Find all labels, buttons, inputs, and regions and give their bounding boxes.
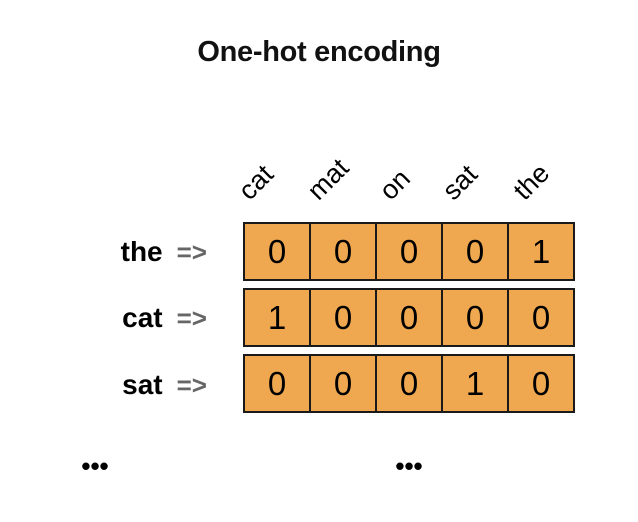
column-header-mat: mat — [303, 154, 354, 205]
maps-to-arrow-icon: => — [177, 239, 207, 265]
matrix-cell: 1 — [442, 354, 508, 413]
matrix-cell: 0 — [442, 222, 508, 281]
matrix-cell: 0 — [376, 354, 442, 413]
matrix-row: 00001 — [243, 222, 575, 281]
row-label-the: the=> — [0, 222, 225, 281]
column-header-sat: sat — [438, 160, 483, 205]
one-hot-matrix: 000011000000010 — [243, 222, 575, 413]
matrix-cell: 0 — [310, 288, 376, 347]
matrix-cell: 0 — [310, 222, 376, 281]
maps-to-arrow-icon: => — [177, 305, 207, 331]
column-header-the: the — [509, 159, 555, 205]
row-label-column: the=>cat=>sat=> — [0, 0, 243, 522]
matrix-cell: 0 — [376, 288, 442, 347]
matrix-cell: 0 — [442, 288, 508, 347]
matrix-cell: 0 — [310, 354, 376, 413]
matrix-cell: 0 — [508, 288, 575, 347]
row-label-word: the — [121, 238, 163, 266]
row-label-word: sat — [122, 371, 162, 399]
one-hot-encoding-figure: { "title": "One-hot encoding", "colors":… — [0, 0, 638, 522]
row-label-cat: cat=> — [0, 288, 225, 347]
ellipsis-marker: ••• — [81, 453, 108, 479]
column-header-on: on — [375, 165, 415, 205]
row-label-word: cat — [122, 304, 162, 332]
matrix-cell: 1 — [508, 222, 575, 281]
matrix-cell: 0 — [243, 354, 310, 413]
matrix-cell: 0 — [508, 354, 575, 413]
ellipsis-marker: ••• — [395, 453, 422, 479]
matrix-cell: 0 — [243, 222, 310, 281]
matrix-row: 10000 — [243, 288, 575, 347]
matrix-cell: 1 — [243, 288, 310, 347]
matrix-row: 00010 — [243, 354, 575, 413]
matrix-cell: 0 — [376, 222, 442, 281]
row-label-sat: sat=> — [0, 355, 225, 414]
maps-to-arrow-icon: => — [177, 372, 207, 398]
